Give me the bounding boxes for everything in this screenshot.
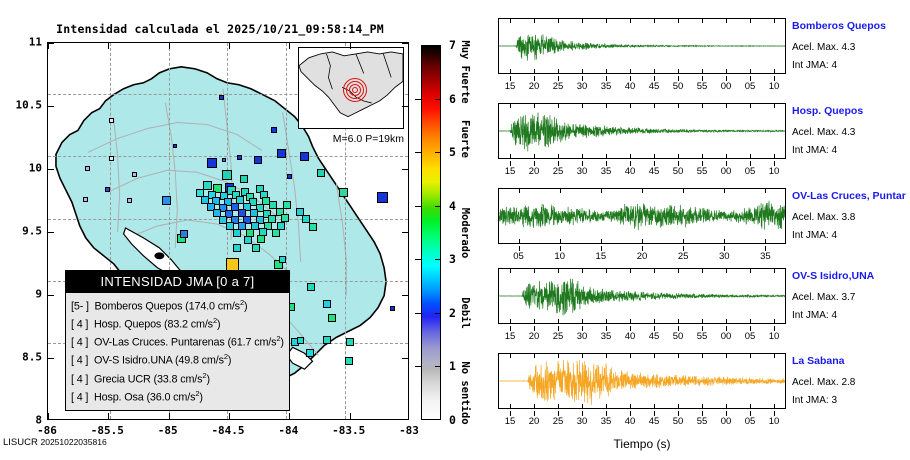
- waveform-tick: [726, 18, 727, 23]
- colorbar-tick: [435, 206, 441, 207]
- legend-row: [ 4 ] Hosp. Osa (36.0 cm/s2): [71, 387, 284, 405]
- timestamp-label: 20251022035816: [40, 437, 106, 447]
- time-tick-label: 55: [697, 166, 708, 177]
- waveform-tick: [642, 239, 643, 244]
- waveform-tick: [630, 353, 631, 358]
- axis-tick: [169, 43, 170, 49]
- waveform-tick: [534, 18, 535, 23]
- waveform-tick: [702, 69, 703, 74]
- waveform-tick: [558, 353, 559, 358]
- legend-row: [ 4 ] OV-S Isidro.UNA (49.8 cm/s2): [71, 350, 284, 368]
- time-tick-label: 50: [673, 166, 684, 177]
- time-tick-label: 30: [719, 251, 730, 262]
- station-marker[interactable]: [346, 338, 354, 346]
- time-tick-label: 00: [721, 81, 732, 92]
- waveform-tick: [606, 268, 607, 273]
- longitude-tick-label: -84: [278, 424, 298, 437]
- waveform-tick: [654, 319, 655, 324]
- axis-tick: [350, 43, 351, 49]
- station-marker[interactable]: [377, 192, 388, 203]
- waveform-tick: [683, 239, 684, 244]
- waveform-trace-box[interactable]: [498, 18, 786, 74]
- colorbar-tick: [415, 99, 421, 100]
- waveform-tick: [510, 319, 511, 324]
- waveform-tick: [702, 154, 703, 159]
- time-tick-label: 30: [577, 416, 588, 427]
- station-marker[interactable]: [307, 283, 315, 291]
- waveform-time-axis: 152025303540455055000510: [478, 76, 910, 92]
- station-marker[interactable]: [233, 244, 241, 252]
- longitude-tick-label: -84.5: [211, 424, 244, 437]
- time-tick-label: 40: [625, 81, 636, 92]
- station-marker[interactable]: [237, 155, 242, 160]
- waveform-tick: [582, 404, 583, 409]
- station-marker[interactable]: [323, 300, 331, 308]
- waveform-tick: [582, 353, 583, 358]
- waveform-time-axis: 152025303540455055000510: [478, 411, 910, 427]
- colorbar-tick: [415, 259, 421, 260]
- legend-row: [5- ] Bomberos Quepos (174.0 cm/s2): [71, 296, 284, 314]
- waveform-trace-box[interactable]: [498, 268, 786, 324]
- waveform-tick: [606, 103, 607, 108]
- waveform-tick: [558, 268, 559, 273]
- waveform-tick: [726, 69, 727, 74]
- colorbar-tick: [435, 366, 441, 367]
- time-axis-label: Tiempo (s): [614, 437, 671, 451]
- time-tick-label: 05: [745, 81, 756, 92]
- waveform-tick: [726, 353, 727, 358]
- colorbar-tick: [415, 366, 421, 367]
- time-tick-label: 15: [505, 416, 516, 427]
- magnitude-depth-caption: M=6.0 P=19km: [333, 133, 404, 145]
- waveform-tick: [774, 404, 775, 409]
- waveform-tick: [606, 404, 607, 409]
- map-panel: Intensidad calculada el 2025/10/21_09:58…: [0, 0, 470, 460]
- waveform-tick: [510, 103, 511, 108]
- station-marker[interactable]: [105, 187, 110, 192]
- max-acceleration-label: Acel. Max. 4.3: [792, 42, 855, 53]
- station-marker[interactable]: [328, 314, 336, 322]
- station-marker[interactable]: [345, 357, 353, 365]
- time-tick-label: 35: [601, 166, 612, 177]
- waveform-tick: [510, 69, 511, 74]
- colorbar-value-label: 2: [449, 306, 456, 320]
- waveform-tick: [702, 353, 703, 358]
- time-tick-label: 15: [505, 81, 516, 92]
- axis-tick: [289, 43, 290, 49]
- axis-tick: [48, 106, 54, 107]
- station-marker[interactable]: [132, 172, 137, 177]
- station-marker[interactable]: [203, 181, 212, 190]
- longitude-tick-label: -83: [399, 424, 419, 437]
- jma-intensity-label: Int JMA: 4: [792, 145, 837, 156]
- waveform-tick: [774, 154, 775, 159]
- waveform-tick: [582, 103, 583, 108]
- axis-tick: [48, 358, 54, 359]
- station-marker[interactable]: [323, 336, 331, 344]
- waveform-tick: [683, 188, 684, 193]
- colorbar-value-label: 1: [449, 359, 456, 373]
- time-tick-label: 10: [769, 166, 780, 177]
- waveform-tick: [654, 268, 655, 273]
- waveform-tick: [678, 404, 679, 409]
- waveform-tick: [519, 188, 520, 193]
- waveform-tick: [678, 154, 679, 159]
- waveform-tick: [654, 103, 655, 108]
- time-tick-label: 20: [529, 166, 540, 177]
- time-tick-label: 20: [529, 416, 540, 427]
- station-marker[interactable]: [297, 337, 304, 344]
- station-marker[interactable]: [281, 214, 289, 222]
- time-tick-label: 10: [769, 331, 780, 342]
- waveform-tick: [560, 188, 561, 193]
- max-acceleration-label: Acel. Max. 4.3: [792, 127, 855, 138]
- waveform-time-axis: 152025303540455055000510: [478, 161, 910, 177]
- waveform-tick: [630, 268, 631, 273]
- station-marker[interactable]: [180, 230, 188, 238]
- station-marker[interactable]: [83, 197, 88, 202]
- axis-tick: [229, 43, 230, 49]
- waveform-tick: [750, 404, 751, 409]
- station-name-label[interactable]: Bomberos Quepos: [792, 20, 886, 32]
- waveform-tick: [678, 103, 679, 108]
- waveform-tick: [642, 188, 643, 193]
- waveform-tick: [582, 319, 583, 324]
- station-marker[interactable]: [233, 229, 241, 237]
- colorbar-value-label: 4: [449, 199, 456, 213]
- time-tick-label: 00: [721, 331, 732, 342]
- colorbar-tick: [415, 313, 421, 314]
- latitude-tick-label: 10.5: [0, 99, 42, 112]
- waveform-tick: [678, 69, 679, 74]
- time-tick-label: 35: [601, 81, 612, 92]
- station-name-label[interactable]: La Sabana: [792, 355, 845, 367]
- legend-row: [ 4 ] OV-Las Cruces. Puntarenas (61.7 cm…: [71, 332, 284, 350]
- waveform-tick: [654, 353, 655, 358]
- legend-rows: [5- ] Bomberos Quepos (174.0 cm/s2)[ 4 ]…: [66, 293, 289, 410]
- waveform-tick: [702, 319, 703, 324]
- waveform-tick: [606, 154, 607, 159]
- longitude-tick-label: -85: [158, 424, 178, 437]
- axis-tick: [350, 413, 351, 419]
- waveform-tick: [510, 353, 511, 358]
- waveform-tick: [582, 18, 583, 23]
- time-tick-label: 35: [601, 331, 612, 342]
- waveform-tick: [726, 319, 727, 324]
- time-tick-label: 40: [625, 416, 636, 427]
- station-name-label[interactable]: OV-Las Cruces, Puntar: [792, 190, 906, 202]
- waveform-tick: [774, 69, 775, 74]
- waveform-trace-box[interactable]: [498, 188, 786, 244]
- station-marker[interactable]: [309, 223, 317, 231]
- colorbar-category-label: Debil: [459, 297, 471, 329]
- time-tick-label: 25: [553, 166, 564, 177]
- axis-tick: [169, 413, 170, 419]
- axis-tick: [402, 43, 408, 44]
- time-tick-label: 00: [721, 166, 732, 177]
- axis-tick: [402, 232, 408, 233]
- axis-tick: [48, 295, 54, 296]
- station-marker[interactable]: [219, 95, 224, 100]
- station-marker[interactable]: [302, 215, 310, 223]
- time-tick-label: 40: [625, 331, 636, 342]
- axis-tick: [48, 169, 54, 170]
- waveform-tick: [534, 103, 535, 108]
- colorbar-category-label: Moderado: [459, 207, 471, 258]
- station-name-label[interactable]: OV-S Isidro,UNA: [792, 270, 874, 282]
- waveform-tick: [765, 188, 766, 193]
- waveform-tick: [560, 239, 561, 244]
- station-marker[interactable]: [254, 156, 262, 164]
- station-marker[interactable]: [244, 236, 252, 244]
- waveform-panel: 152025303540455055000510Bomberos QueposA…: [478, 0, 910, 460]
- legend-row: [ 4 ] Hosp. Quepos (83.2 cm/s2): [71, 314, 284, 332]
- grid-line-horizontal: [48, 219, 408, 220]
- time-tick-label: 05: [745, 416, 756, 427]
- legend-title: INTENSIDAD JMA [0 a 7]: [66, 271, 289, 293]
- axis-tick: [108, 413, 109, 419]
- station-marker[interactable]: [317, 169, 325, 177]
- colorbar-tick: [435, 259, 441, 260]
- colorbar-category-label: No sentido: [459, 362, 471, 425]
- time-tick-label: 45: [649, 166, 660, 177]
- max-acceleration-label: Acel. Max. 3.8: [792, 212, 855, 223]
- station-marker[interactable]: [226, 258, 239, 271]
- station-marker[interactable]: [252, 244, 260, 252]
- waveform-tick: [630, 154, 631, 159]
- intensity-colorbar: 01234567No sentidoDebilModeradoFuerteMuy…: [421, 45, 471, 420]
- waveform-tick: [558, 18, 559, 23]
- waveform-tick: [726, 404, 727, 409]
- waveform-tick: [558, 404, 559, 409]
- time-tick-label: 30: [577, 81, 588, 92]
- waveform-trace-box[interactable]: [498, 353, 786, 409]
- station-marker[interactable]: [222, 170, 232, 180]
- time-tick-label: 25: [553, 416, 564, 427]
- colorbar-tick: [435, 313, 441, 314]
- waveform-tick: [534, 353, 535, 358]
- waveform-tick: [765, 239, 766, 244]
- waveform-tick: [750, 69, 751, 74]
- longitude-tick-label: -85.5: [91, 424, 124, 437]
- intensity-legend: INTENSIDAD JMA [0 a 7] [5- ] Bomberos Qu…: [65, 270, 290, 411]
- waveform-tick: [630, 103, 631, 108]
- waveform-tick: [724, 188, 725, 193]
- time-tick-label: 20: [529, 331, 540, 342]
- station-marker[interactable]: [287, 174, 292, 179]
- time-tick-label: 00: [721, 416, 732, 427]
- time-tick-label: 20: [529, 81, 540, 92]
- station-marker[interactable]: [390, 306, 395, 311]
- time-tick-label: 35: [601, 416, 612, 427]
- waveform-tick: [654, 404, 655, 409]
- time-tick-label: 25: [678, 251, 689, 262]
- axis-tick: [402, 295, 408, 296]
- waveform-tick: [606, 353, 607, 358]
- waveform-tick: [601, 188, 602, 193]
- waveform-tick: [630, 69, 631, 74]
- time-tick-label: 55: [697, 416, 708, 427]
- axis-tick: [289, 413, 290, 419]
- colorbar-category-label: Fuerte: [459, 120, 471, 158]
- time-tick-label: 10: [554, 251, 565, 262]
- waveform-tick: [750, 154, 751, 159]
- waveform-tick: [558, 69, 559, 74]
- time-tick-label: 05: [745, 331, 756, 342]
- axis-tick: [402, 106, 408, 107]
- waveform-tick: [606, 69, 607, 74]
- waveform-tick: [702, 103, 703, 108]
- axis-tick: [108, 43, 109, 49]
- waveform-tick: [582, 69, 583, 74]
- waveform-tick: [510, 404, 511, 409]
- latitude-tick-label: 8.5: [0, 351, 42, 364]
- axis-tick: [48, 43, 54, 44]
- time-tick-label: 50: [673, 416, 684, 427]
- epicenter-ring: [343, 78, 367, 102]
- station-marker[interactable]: [283, 201, 291, 209]
- colorbar-tick: [435, 152, 441, 153]
- colorbar-category-label: Muy Fuerte: [459, 40, 471, 103]
- station-marker[interactable]: [173, 144, 177, 148]
- time-tick-label: 15: [505, 331, 516, 342]
- time-tick-label: 45: [649, 416, 660, 427]
- waveform-tick: [534, 154, 535, 159]
- waveform-time-axis: 05101520253035: [478, 246, 910, 262]
- jma-intensity-label: Int JMA: 4: [792, 230, 837, 241]
- station-marker[interactable]: [271, 127, 277, 133]
- station-marker[interactable]: [109, 118, 114, 123]
- waveform-tick: [726, 268, 727, 273]
- time-tick-label: 45: [649, 81, 660, 92]
- waveform-tick: [558, 103, 559, 108]
- station-marker[interactable]: [85, 166, 90, 171]
- max-acceleration-label: Acel. Max. 3.7: [792, 292, 855, 303]
- footer-credit: LISUCR 20251022035816: [3, 437, 107, 448]
- grid-line-horizontal: [48, 156, 408, 157]
- waveform-tick: [774, 103, 775, 108]
- waveform-tick: [774, 353, 775, 358]
- time-tick-label: 25: [553, 81, 564, 92]
- waveform-tick: [774, 268, 775, 273]
- map-plot-area[interactable]: M=6.0 P=19km INTENSIDAD JMA [0 a 7] [5- …: [47, 42, 409, 420]
- colorbar-tick: [415, 152, 421, 153]
- axis-tick: [229, 413, 230, 419]
- time-tick-label: 10: [769, 416, 780, 427]
- waveform-tick: [519, 239, 520, 244]
- waveform-tick: [654, 154, 655, 159]
- time-tick-label: 30: [577, 331, 588, 342]
- waveform-tick: [678, 268, 679, 273]
- station-marker[interactable]: [306, 349, 314, 357]
- agency-label: LISUCR: [3, 437, 38, 448]
- jma-intensity-label: Int JMA: 3: [792, 395, 837, 406]
- waveform-tick: [750, 103, 751, 108]
- time-tick-label: 50: [673, 331, 684, 342]
- jma-intensity-label: Int JMA: 4: [792, 60, 837, 71]
- waveform-tick: [606, 319, 607, 324]
- legend-row: [ 4 ] Grecia UCR (33.8 cm/s2): [71, 369, 284, 387]
- waveform-tick: [750, 18, 751, 23]
- time-tick-label: 55: [697, 331, 708, 342]
- waveform-tick: [654, 69, 655, 74]
- time-tick-label: 20: [637, 251, 648, 262]
- time-tick-label: 05: [745, 166, 756, 177]
- time-tick-label: 55: [697, 81, 708, 92]
- waveform-time-axis: 152025303540455055000510: [478, 326, 910, 342]
- jma-intensity-label: Int JMA: 4: [792, 310, 837, 321]
- waveform-tick: [726, 103, 727, 108]
- station-marker[interactable]: [162, 196, 171, 205]
- waveform-tick: [558, 319, 559, 324]
- waveform-tick: [724, 239, 725, 244]
- time-tick-label: 15: [596, 251, 607, 262]
- time-tick-label: 50: [673, 81, 684, 92]
- waveform-tick: [678, 319, 679, 324]
- time-tick-label: 25: [553, 331, 564, 342]
- axis-tick: [48, 413, 49, 419]
- waveform-tick: [630, 404, 631, 409]
- colorbar-tick: [415, 206, 421, 207]
- waveform-tick: [702, 404, 703, 409]
- latitude-tick-label: 9: [0, 288, 42, 301]
- waveform-tick: [750, 268, 751, 273]
- waveform-tick: [582, 154, 583, 159]
- colorbar-value-label: 3: [449, 252, 456, 266]
- colorbar-value-label: 6: [449, 92, 456, 106]
- waveform-tick: [750, 319, 751, 324]
- time-tick-label: 40: [625, 166, 636, 177]
- station-marker[interactable]: [109, 156, 114, 161]
- waveform-tick: [750, 353, 751, 358]
- station-marker[interactable]: [127, 198, 132, 203]
- station-marker[interactable]: [257, 235, 265, 243]
- waveform-tick: [678, 18, 679, 23]
- axis-tick: [48, 232, 54, 233]
- axis-tick: [402, 169, 408, 170]
- station-marker[interactable]: [339, 188, 348, 197]
- waveform-tick: [726, 154, 727, 159]
- time-tick-label: 30: [577, 166, 588, 177]
- station-marker[interactable]: [240, 175, 248, 183]
- waveform-tick: [774, 319, 775, 324]
- waveform-tick: [654, 18, 655, 23]
- colorbar-value-label: 7: [449, 38, 456, 52]
- station-name-label[interactable]: Hosp. Quepos: [792, 105, 863, 117]
- latitude-tick-label: 9.5: [0, 225, 42, 238]
- waveform-tick: [702, 18, 703, 23]
- waveform-trace-box[interactable]: [498, 103, 786, 159]
- station-marker[interactable]: [279, 256, 286, 263]
- waveform-tick: [606, 18, 607, 23]
- station-marker[interactable]: [277, 149, 286, 158]
- waveform-tick: [774, 18, 775, 23]
- waveform-tick: [558, 154, 559, 159]
- station-marker[interactable]: [207, 158, 217, 168]
- waveform-tick: [534, 69, 535, 74]
- time-tick-label: 05: [513, 251, 524, 262]
- waveform-tick: [702, 268, 703, 273]
- waveform-tick: [534, 319, 535, 324]
- station-marker[interactable]: [300, 152, 309, 161]
- station-marker[interactable]: [272, 229, 280, 237]
- waveform-tick: [534, 404, 535, 409]
- waveform-tick: [510, 268, 511, 273]
- colorbar-value-label: 5: [449, 145, 456, 159]
- time-tick-label: 45: [649, 331, 660, 342]
- axis-tick: [402, 358, 408, 359]
- station-marker[interactable]: [222, 158, 226, 162]
